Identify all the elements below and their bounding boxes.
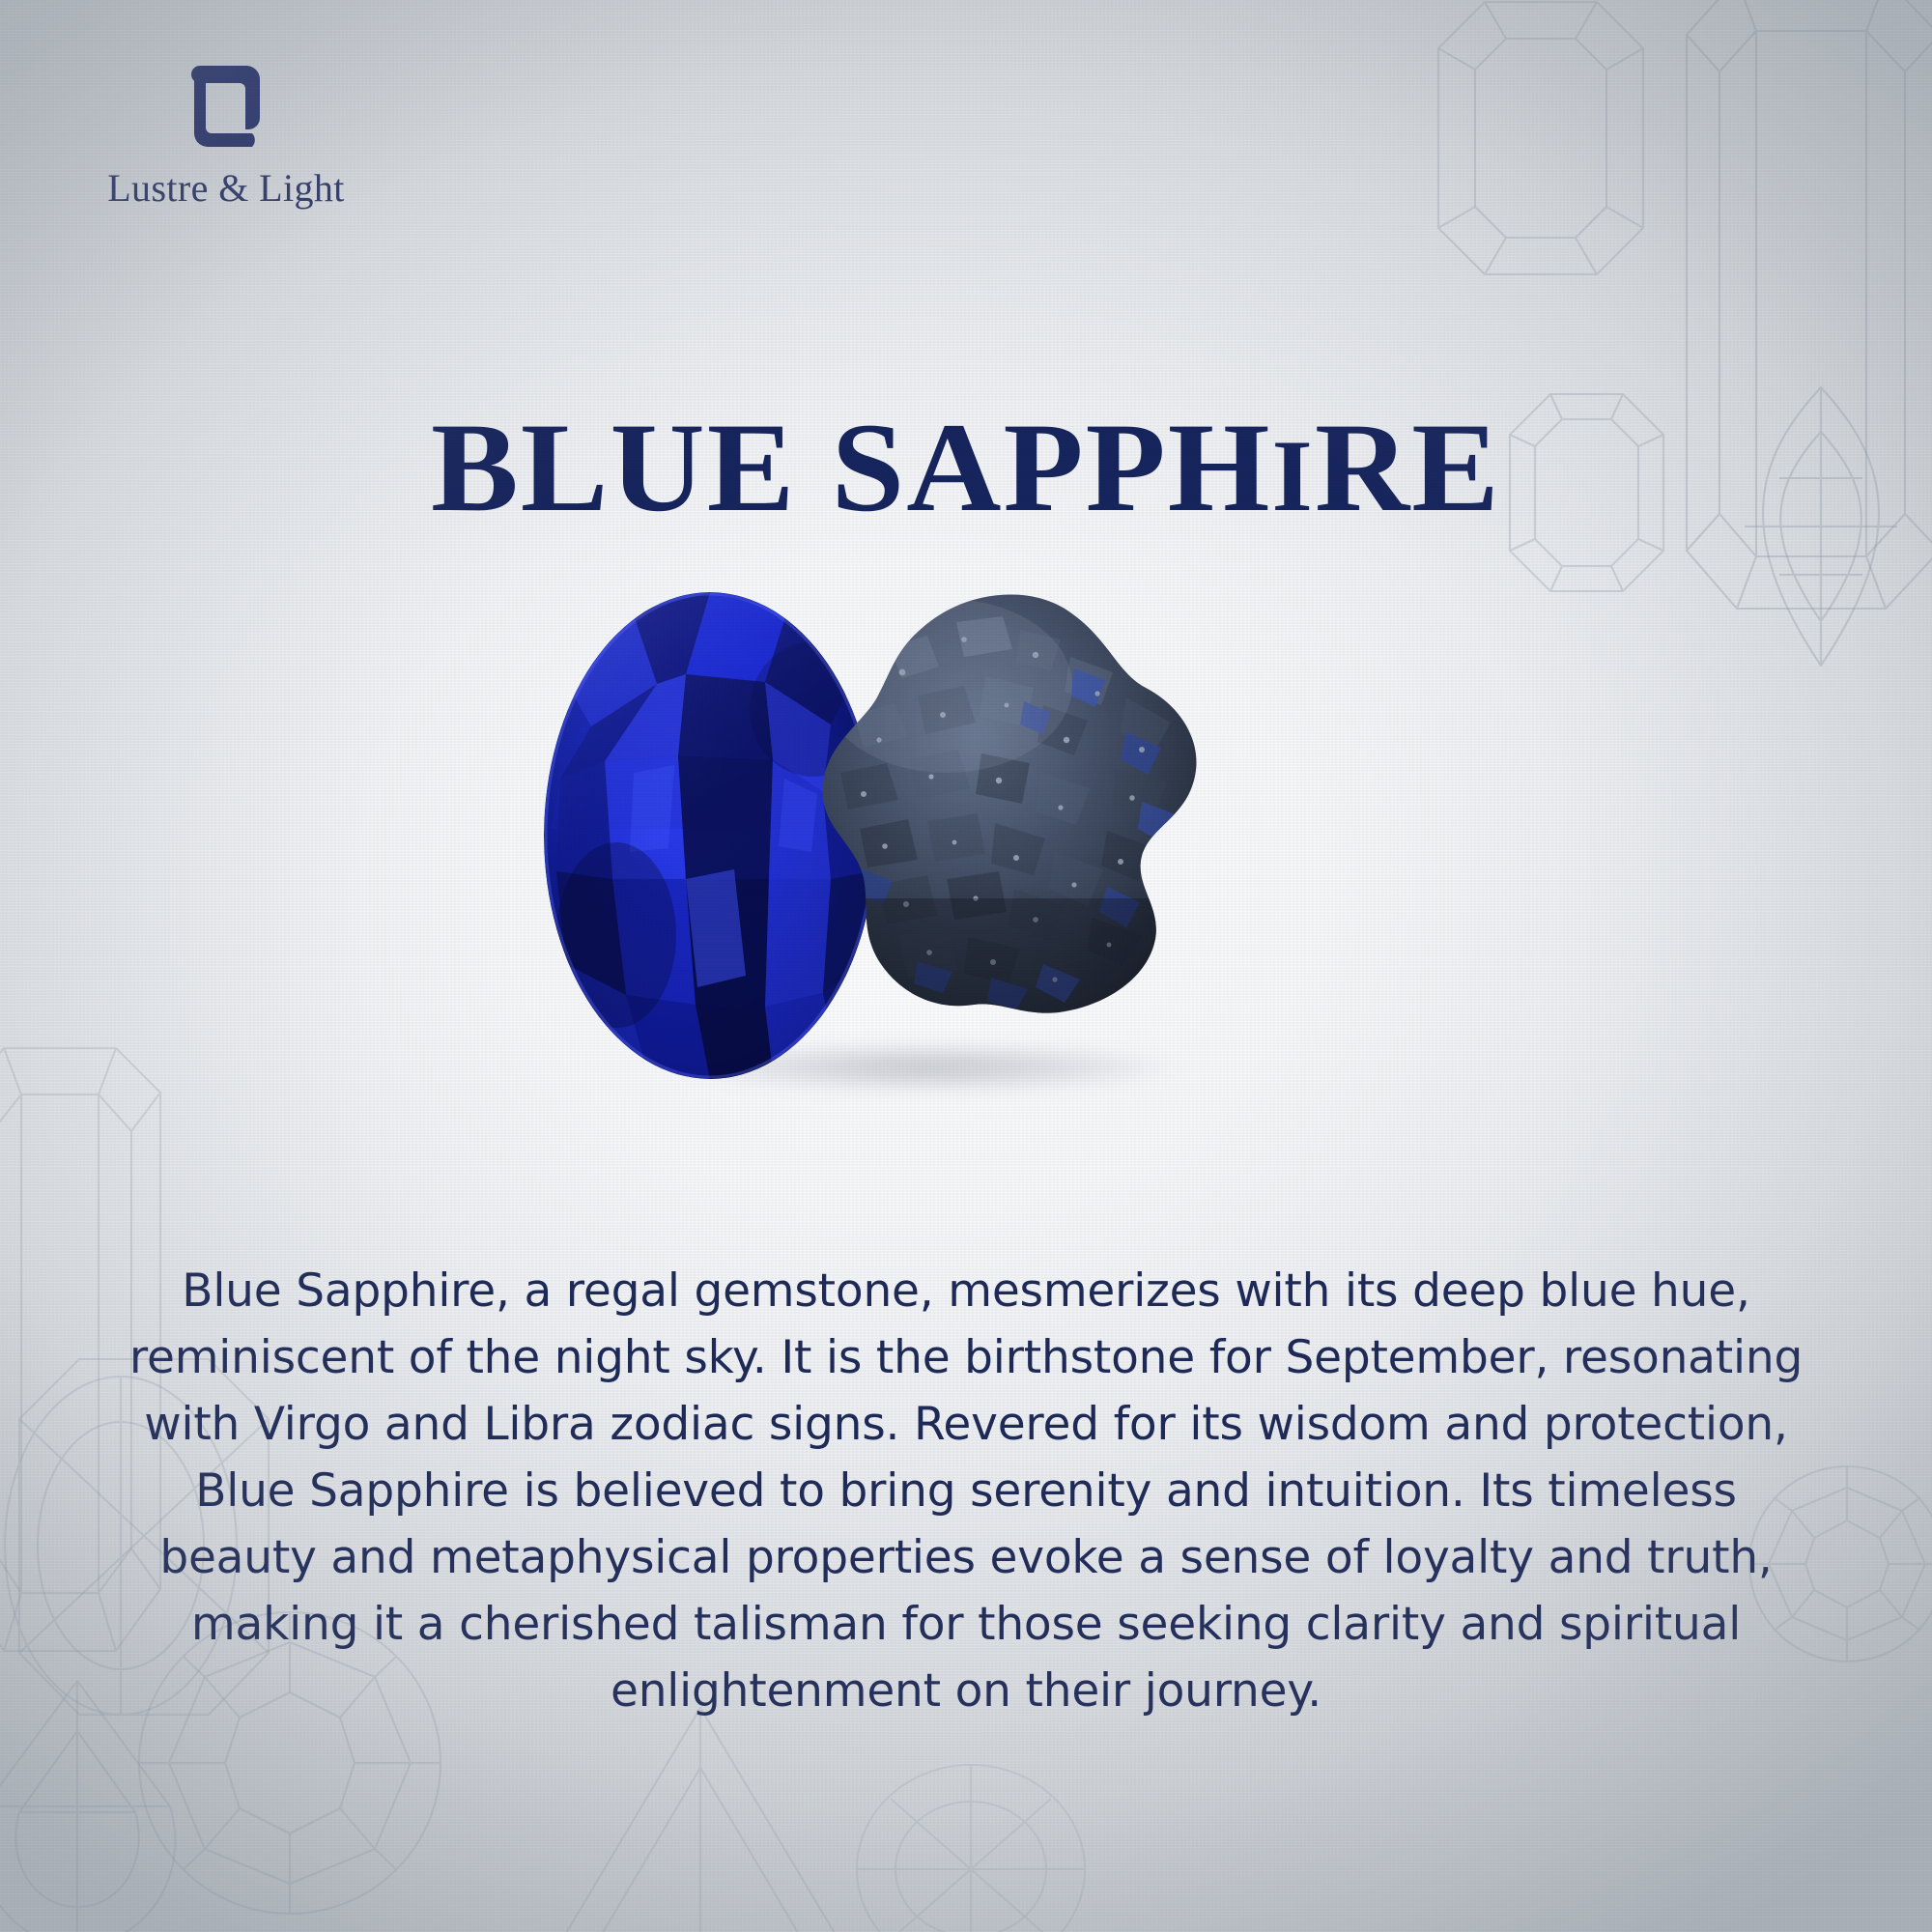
poster-canvas: Lustre & Light BLUE SAPPHIRE bbox=[0, 0, 1932, 1932]
oval-faceted-gem-outline bbox=[850, 1758, 1092, 1932]
hero-gem-image bbox=[541, 580, 1314, 1092]
page-title: BLUE SAPPHIRE bbox=[0, 404, 1932, 531]
page-title-small-cap-i: I bbox=[1272, 419, 1315, 532]
brand-logo[interactable]: Lustre & Light bbox=[100, 60, 352, 211]
trillion-gem-outline bbox=[541, 1700, 860, 1932]
description-paragraph: Blue Sapphire, a regal gemstone, mesmeri… bbox=[116, 1258, 1816, 1725]
rough-sapphire-specimen bbox=[802, 580, 1217, 1063]
tall-baguette-gem-outline bbox=[1681, 0, 1932, 647]
brand-name: Lustre & Light bbox=[100, 165, 352, 211]
bracket-square-logo-icon bbox=[188, 60, 264, 153]
octagon-emerald-cut-gem-outline bbox=[1425, 0, 1657, 288]
page-title-part-1: BLUE SAPPH bbox=[431, 396, 1271, 538]
page-title-part-2: RE bbox=[1315, 396, 1501, 538]
